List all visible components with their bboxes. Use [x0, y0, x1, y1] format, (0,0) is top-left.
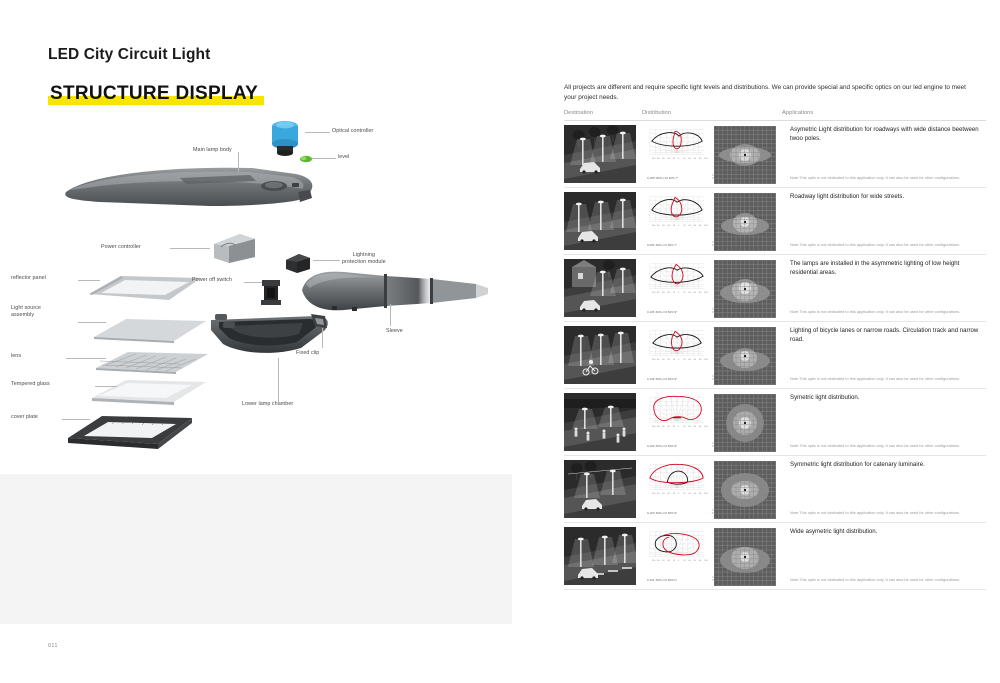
header-distribution: Distribution	[642, 110, 782, 116]
label-tempered-glass: Tempered glass	[11, 381, 50, 388]
meta-black: 0-109',60%;c=0 60%:9°	[647, 445, 677, 449]
svg-text:0: 0	[678, 426, 680, 428]
svg-text:100: 100	[652, 560, 656, 562]
applications-cell: Wide asymetric light distribution. Note:…	[782, 527, 986, 585]
label-power-controller: Power controller	[101, 244, 141, 251]
svg-text:40: 40	[668, 493, 671, 495]
meta-black: 0-180°,B0%,c=0 60%:7°	[647, 177, 678, 181]
label-fixed-clip: Fixed clip	[296, 350, 319, 357]
svg-text:20: 20	[683, 426, 686, 428]
svg-text:60: 60	[662, 225, 665, 227]
destination-thumbnail	[564, 460, 636, 518]
destination-cell	[564, 125, 642, 183]
table-row: 10080604020020406080100 0-180°,B0%,c=0 6…	[564, 121, 986, 188]
destination-cell	[564, 460, 642, 518]
application-text: The lamps are installed in the asymmetri…	[790, 259, 986, 277]
leader-power-controller	[170, 248, 210, 249]
leader-optical-controller	[305, 132, 330, 133]
table-body: 10080604020020406080100 0-180°,B0%,c=0 6…	[564, 121, 986, 590]
application-text: Roadway light distribution for wide stre…	[790, 192, 986, 201]
label-optical-controller: Optical controller	[332, 128, 373, 135]
svg-text:60: 60	[662, 493, 665, 495]
leader-fixed-clip-v	[322, 328, 323, 348]
svg-text:20: 20	[673, 359, 676, 361]
svg-text:40: 40	[688, 493, 691, 495]
phantom-star-band: PHANTOM STAR IP65 Prevent water spraying…	[0, 474, 512, 624]
svg-text:40: 40	[688, 225, 691, 227]
svg-text:40: 40	[688, 158, 691, 160]
svg-text:100: 100	[652, 225, 656, 227]
destination-cell	[564, 192, 642, 250]
leader-power-off-switch	[244, 282, 262, 283]
svg-text:40: 40	[688, 426, 691, 428]
svg-text:80: 80	[699, 359, 702, 361]
light-source-assembly-part	[90, 315, 210, 345]
svg-text:80: 80	[657, 292, 660, 294]
svg-text:100: 100	[704, 359, 708, 361]
svg-text:20: 20	[673, 560, 676, 562]
svg-text:100: 100	[652, 426, 656, 428]
svg-text:0: 0	[678, 292, 680, 294]
svg-text:60: 60	[662, 560, 665, 562]
application-note: Note:This optic is not dedicated to this…	[790, 510, 984, 516]
distribution-cell: 10080604020020406080100 0-108',60%;c=0 6…	[642, 326, 782, 384]
svg-text:80: 80	[657, 493, 660, 495]
svg-text:40: 40	[688, 292, 691, 294]
destination-thumbnail	[564, 192, 636, 250]
distribution-cell: 10080604020020406080100 0-180°,B0%,c=0 6…	[642, 125, 782, 183]
svg-text:80: 80	[699, 493, 702, 495]
svg-text:40: 40	[688, 560, 691, 562]
svg-text:0: 0	[678, 225, 680, 227]
svg-text:100: 100	[704, 225, 708, 227]
svg-text:80: 80	[657, 158, 660, 160]
svg-text:80: 80	[699, 426, 702, 428]
svg-text:60: 60	[662, 292, 665, 294]
application-text: Wide asymetric light distribution.	[790, 527, 986, 536]
application-note: Note:This optic is not dedicated to this…	[790, 577, 984, 583]
application-note: Note:This optic is not dedicated to this…	[790, 443, 984, 449]
applications-cell: Roadway light distribution for wide stre…	[782, 192, 986, 250]
svg-text:40: 40	[688, 359, 691, 361]
destination-thumbnail	[564, 393, 636, 451]
svg-text:60: 60	[694, 292, 697, 294]
meta-black: 0-100',60%;c=0 60%:9°	[647, 512, 677, 516]
svg-text:80: 80	[657, 225, 660, 227]
label-level: level	[338, 154, 349, 161]
table-row: 10080604020020406080100 0-100',60%;c=0 6…	[564, 456, 986, 523]
meta-black: 0-108',60%;c=0 60%:9°	[647, 378, 677, 382]
optical-controller-part	[268, 116, 302, 158]
applications-cell: Lighting of bicycle lanes or narrow road…	[782, 326, 986, 384]
label-reflector-panel: reflector panel	[11, 275, 46, 282]
table-row: 10080604020020406080100 0-104',60%;c=0 6…	[564, 523, 986, 590]
applications-cell: Symmetric light distribution for catenar…	[782, 460, 986, 518]
table-row: 10080604020020406080100 0-054',60%;c=0 6…	[564, 188, 986, 255]
applications-cell: Asymetric Light distribution for roadway…	[782, 125, 986, 183]
svg-text:80: 80	[657, 426, 660, 428]
svg-text:20: 20	[683, 158, 686, 160]
distribution-meta: 0-106',60%;c=0 60%:9°	[647, 311, 677, 315]
svg-text:20: 20	[673, 158, 676, 160]
svg-text:60: 60	[694, 158, 697, 160]
svg-text:60: 60	[662, 426, 665, 428]
leader-sleeve-v	[390, 304, 391, 326]
distribution-cell: 10080604020020406080100 0-104',60%;c=0 6…	[642, 527, 782, 585]
svg-text:100: 100	[704, 560, 708, 562]
svg-text:20: 20	[673, 292, 676, 294]
meta-black: 0-106',60%;c=0 60%:9°	[647, 311, 677, 315]
distribution-meta: 0-108',60%;c=0 60%:9°	[647, 378, 677, 382]
svg-text:0: 0	[678, 493, 680, 495]
cover-plate-part	[62, 410, 202, 452]
distribution-cell: 10080604020020406080100 0-100',60%;c=0 6…	[642, 460, 782, 518]
svg-text:100: 100	[652, 359, 656, 361]
distribution-cell: 10080604020020406080100 0-054',60%;c=0 6…	[642, 192, 782, 250]
main-lamp-body-part	[60, 162, 320, 214]
application-text: Lighting of bicycle lanes or narrow road…	[790, 326, 986, 344]
distribution-meta: 0-100',60%;c=0 60%:9°	[647, 512, 677, 516]
leader-reflector-panel	[78, 280, 100, 281]
leader-level	[312, 158, 336, 159]
destination-thumbnail	[564, 125, 636, 183]
label-cover-plate: cover plate	[11, 414, 38, 421]
meta-black: 0-104',60%;c=0 60%:N	[647, 579, 677, 583]
svg-text:20: 20	[673, 426, 676, 428]
svg-text:100: 100	[704, 158, 708, 160]
svg-text:100: 100	[652, 292, 656, 294]
distribution-meta: 0-104',60%;c=0 60%:N	[647, 579, 677, 583]
svg-text:20: 20	[673, 225, 676, 227]
lens-part	[92, 348, 212, 378]
svg-text:60: 60	[662, 158, 665, 160]
svg-text:60: 60	[662, 359, 665, 361]
section-heading: STRUCTURE DISPLAY	[48, 83, 262, 106]
destination-thumbnail	[564, 527, 636, 585]
svg-text:40: 40	[668, 359, 671, 361]
svg-text:80: 80	[657, 359, 660, 361]
svg-text:100: 100	[652, 158, 656, 160]
application-note: Note:This optic is not dedicated to this…	[790, 376, 984, 382]
svg-text:60: 60	[694, 359, 697, 361]
distribution-meta: 0-180°,B0%,c=0 60%:7°	[647, 177, 678, 181]
svg-text:40: 40	[668, 225, 671, 227]
svg-text:80: 80	[657, 560, 660, 562]
application-note: Note:This optic is not dedicated to this…	[790, 309, 984, 315]
leader-lower-lamp-chamber-v	[278, 358, 279, 402]
destination-cell	[564, 393, 642, 451]
label-power-off-switch: Power off switch	[192, 277, 232, 284]
section-heading-wrap: STRUCTURE DISPLAY	[48, 83, 262, 106]
exploded-diagram: Optical controller level Main lamp body …	[0, 110, 512, 460]
optics-table: Destination Distribution Applications 10…	[564, 110, 986, 590]
svg-text:20: 20	[683, 493, 686, 495]
destination-thumbnail	[564, 259, 636, 317]
svg-text:20: 20	[683, 292, 686, 294]
svg-text:100: 100	[704, 292, 708, 294]
application-note: Note:This optic is not dedicated to this…	[790, 175, 984, 181]
svg-text:40: 40	[668, 426, 671, 428]
right-page: All projects are different and require s…	[512, 0, 1000, 683]
label-lower-lamp-chamber: Lower lamp chamber	[242, 401, 293, 408]
header-applications: Applications	[782, 110, 986, 116]
svg-text:80: 80	[699, 292, 702, 294]
application-text: Asymetric Light distribution for roadway…	[790, 125, 986, 143]
svg-text:100: 100	[704, 493, 708, 495]
svg-text:40: 40	[668, 158, 671, 160]
tempered-glass-part	[88, 376, 213, 408]
leader-main-lamp-body-v	[238, 152, 239, 172]
table-row: 10080604020020406080100 0-106',60%;c=0 6…	[564, 255, 986, 322]
label-lightning-protection-module: Lightning protection module	[342, 252, 386, 267]
page-number-left: 011	[48, 643, 58, 649]
destination-cell	[564, 527, 642, 585]
svg-text:40: 40	[668, 292, 671, 294]
reflector-panel-part	[85, 272, 205, 306]
svg-text:20: 20	[683, 225, 686, 227]
distribution-cell: 10080604020020406080100 0-106',60%;c=0 6…	[642, 259, 782, 317]
svg-text:20: 20	[673, 493, 676, 495]
leader-tempered-glass	[95, 386, 117, 387]
table-row: 10080604020020406080100 0-108',60%;c=0 6…	[564, 322, 986, 389]
applications-cell: The lamps are installed in the asymmetri…	[782, 259, 986, 317]
svg-text:20: 20	[683, 359, 686, 361]
meta-black: 0-054',60%;c=0 60%:7°	[647, 244, 677, 248]
table-row: 10080604020020406080100 0-109',60%;c=0 6…	[564, 389, 986, 456]
application-note: Note:This optic is not dedicated to this…	[790, 242, 984, 248]
destination-cell	[564, 259, 642, 317]
leader-cover-plate	[62, 419, 90, 420]
leader-light-source-assembly	[78, 322, 106, 323]
leader-lightning	[313, 260, 340, 261]
applications-cell: Symetric light distribution. Note:This o…	[782, 393, 986, 451]
page-title: LED City Circuit Light	[48, 46, 210, 64]
svg-text:100: 100	[652, 493, 656, 495]
table-header: Destination Distribution Applications	[564, 110, 986, 121]
svg-text:20: 20	[683, 560, 686, 562]
svg-text:60: 60	[694, 426, 697, 428]
svg-text:0: 0	[678, 359, 680, 361]
application-text: Symetric light distribution.	[790, 393, 986, 402]
intro-paragraph: All projects are different and require s…	[564, 83, 979, 104]
distribution-meta: 0-109',60%;c=0 60%:9°	[647, 445, 677, 449]
distribution-meta: 0-054',60%;c=0 60%:7°	[647, 244, 677, 248]
label-lens: lens	[11, 353, 21, 360]
distribution-cell: 10080604020020406080100 0-109',60%;c=0 6…	[642, 393, 782, 451]
header-destination: Destination	[564, 110, 642, 116]
label-sleeve: Sleeve	[386, 328, 403, 335]
power-off-switch-part	[258, 276, 284, 308]
label-light-source-assembly: Light source assembly	[11, 305, 41, 320]
svg-text:0: 0	[678, 560, 680, 562]
destination-cell	[564, 326, 642, 384]
svg-text:40: 40	[668, 560, 671, 562]
svg-text:80: 80	[699, 225, 702, 227]
catalog-spread: LED City Circuit Light STRUCTURE DISPLAY	[0, 0, 1000, 683]
destination-thumbnail	[564, 326, 636, 384]
label-main-lamp-body: Main lamp body	[193, 147, 232, 154]
svg-text:100: 100	[704, 426, 708, 428]
svg-text:80: 80	[699, 560, 702, 562]
svg-text:60: 60	[694, 225, 697, 227]
svg-text:0: 0	[678, 158, 680, 160]
leader-lens	[66, 358, 106, 359]
svg-text:80: 80	[699, 158, 702, 160]
left-page: LED City Circuit Light STRUCTURE DISPLAY	[0, 0, 512, 683]
svg-text:60: 60	[694, 560, 697, 562]
application-text: Symmetric light distribution for catenar…	[790, 460, 986, 469]
svg-text:60: 60	[694, 493, 697, 495]
power-controller-part	[210, 230, 258, 266]
